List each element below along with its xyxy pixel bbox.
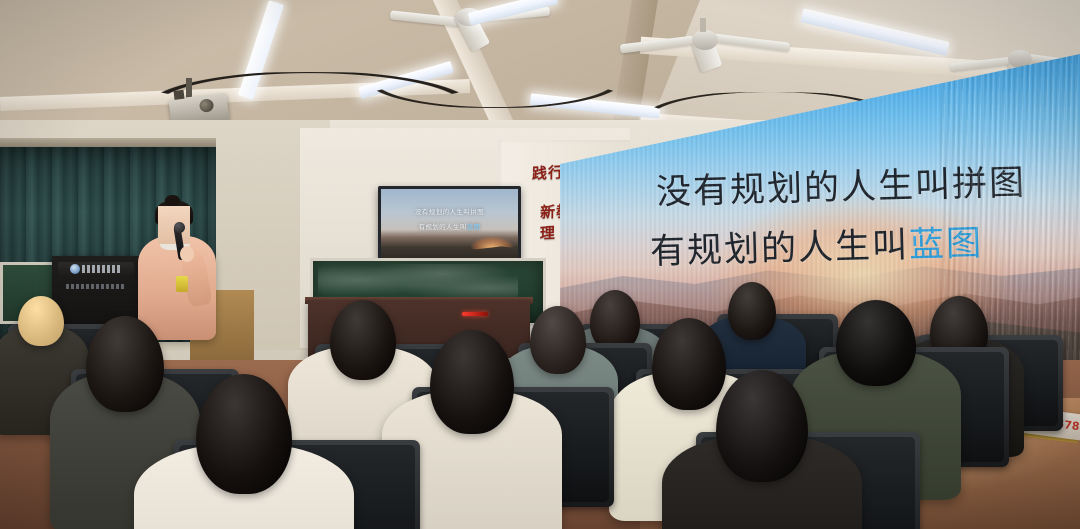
audience-member-head bbox=[530, 306, 586, 374]
audience-member-head bbox=[716, 370, 808, 482]
audience-member-head bbox=[86, 316, 164, 412]
equipment-indicator-lights bbox=[462, 312, 488, 316]
audience-member-head bbox=[330, 300, 396, 380]
presenter-hand bbox=[180, 246, 194, 262]
microphone-head-icon bbox=[174, 222, 185, 233]
curtain-rail bbox=[0, 138, 216, 147]
projection-line-1: 没有规划的人生叫拼图 bbox=[389, 206, 510, 216]
projection-line-2-highlight: 蓝图 bbox=[467, 223, 481, 231]
audience-member-head bbox=[836, 300, 916, 386]
audience-member-head bbox=[18, 296, 64, 346]
audience-member-head bbox=[728, 282, 776, 340]
lectern-logo-text bbox=[82, 265, 122, 273]
projection-screen-image: 没有规划的人生叫拼图 有规划的人生叫蓝图 bbox=[381, 189, 518, 267]
presenter-hair-bun bbox=[165, 195, 180, 206]
projection-line-2-prefix: 有规划的人生叫 bbox=[418, 223, 466, 231]
audience-member-head bbox=[430, 330, 514, 434]
projection-line-2: 有规划的人生叫蓝图 bbox=[389, 221, 510, 231]
school-emblem-icon bbox=[70, 264, 80, 274]
classroom-photo: 践行 新教育理 没有规划的人生叫拼图 有规划的人生叫蓝图 没有规划的人生叫拼图 … bbox=[0, 0, 1080, 529]
audience-member-head bbox=[652, 318, 726, 410]
calligraphy-line-1: 践行 bbox=[532, 161, 564, 184]
lectern-subtitle-text bbox=[66, 284, 124, 289]
ceiling-fan-icon bbox=[620, 18, 790, 66]
audience-member-head bbox=[196, 374, 292, 494]
presenter-badge bbox=[176, 276, 188, 292]
hanging-cable bbox=[370, 82, 620, 108]
